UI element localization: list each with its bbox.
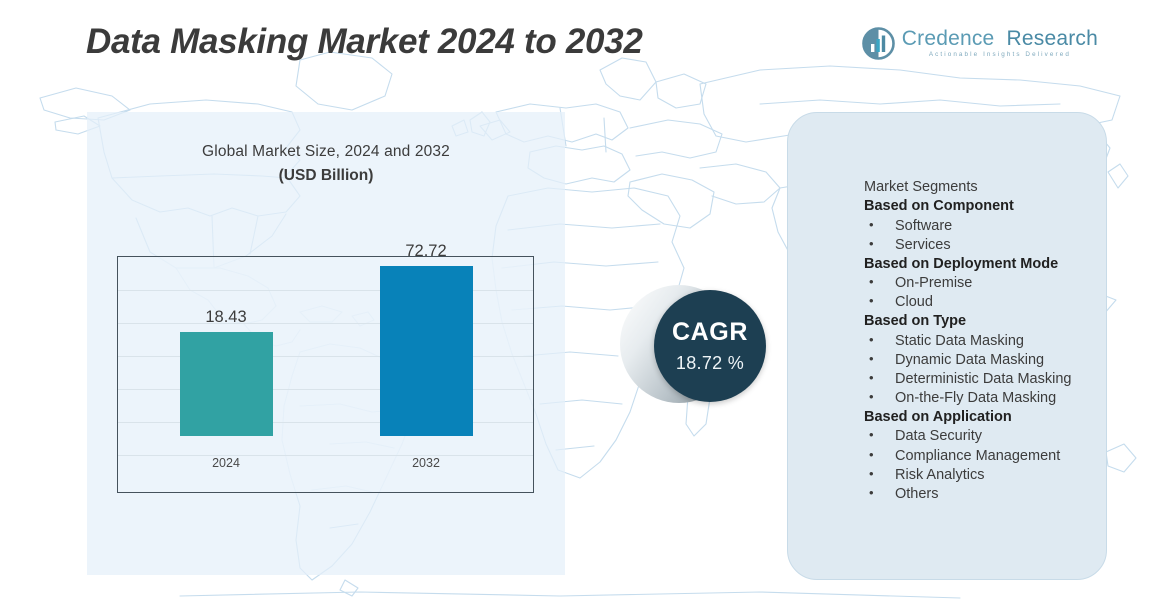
bar-value-2032: 72.72 [366, 242, 486, 261]
bar-chart-circle-icon [862, 27, 895, 60]
segment-item: Deterministic Data Masking [864, 370, 1085, 389]
market-segments-list: Market Segments Based on Component Softw… [864, 178, 1114, 504]
bar-2024 [180, 332, 273, 436]
logo-name-part1: Credence [902, 27, 995, 50]
logo-tagline: Actionable Insights Delivered [902, 52, 1098, 58]
segment-item: Data Security [864, 427, 1114, 446]
bar-value-2024: 18.43 [166, 308, 286, 327]
segment-item: Others [864, 485, 1114, 504]
segment-item: Services [864, 236, 1114, 255]
page-title: Data Masking Market 2024 to 2032 [86, 22, 643, 62]
segment-item: Dynamic Data Masking [864, 351, 1114, 370]
segments-heading: Market Segments [864, 178, 1114, 197]
brand-logo: Credence Research Actionable Insights De… [862, 27, 1098, 60]
segment-item: Compliance Management [864, 447, 1114, 466]
segment-item: Software [864, 217, 1114, 236]
chart-heading-line1: Global Market Size, 2024 and 2032 [87, 143, 565, 161]
segment-item: Cloud [864, 293, 1114, 312]
bar-category-2032: 2032 [366, 456, 486, 470]
segment-group-title: Based on Component [864, 197, 1114, 216]
cagr-circle: CAGR 18.72 % [654, 290, 766, 402]
chart-plot-area: 18.43 2024 72.72 2032 [118, 257, 533, 492]
bar-chart: 18.43 2024 72.72 2032 [117, 256, 534, 493]
segment-item: Static Data Masking [864, 332, 1114, 351]
infographic-root: Data Masking Market 2024 to 2032 Credenc… [0, 0, 1160, 607]
cagr-value: 18.72 % [676, 354, 744, 372]
segment-item: On-Premise [864, 274, 1114, 293]
chart-heading: Global Market Size, 2024 and 2032 (USD B… [87, 143, 565, 185]
segment-group-title: Based on Application [864, 408, 1114, 427]
segment-group-title: Based on Type [864, 312, 1114, 331]
logo-name-part2: Research [1007, 27, 1098, 50]
bar-category-2024: 2024 [166, 456, 286, 470]
bar-2032 [380, 266, 473, 436]
logo-name: Credence Research [902, 28, 1098, 49]
chart-heading-line2: (USD Billion) [87, 167, 565, 185]
segment-item: Risk Analytics [864, 466, 1114, 485]
cagr-label: CAGR [672, 320, 748, 345]
segment-item: On-the-Fly Data Masking [864, 389, 1114, 408]
cagr-badge: CAGR 18.72 % [620, 288, 795, 406]
segment-group-title: Based on Deployment Mode [864, 255, 1114, 274]
